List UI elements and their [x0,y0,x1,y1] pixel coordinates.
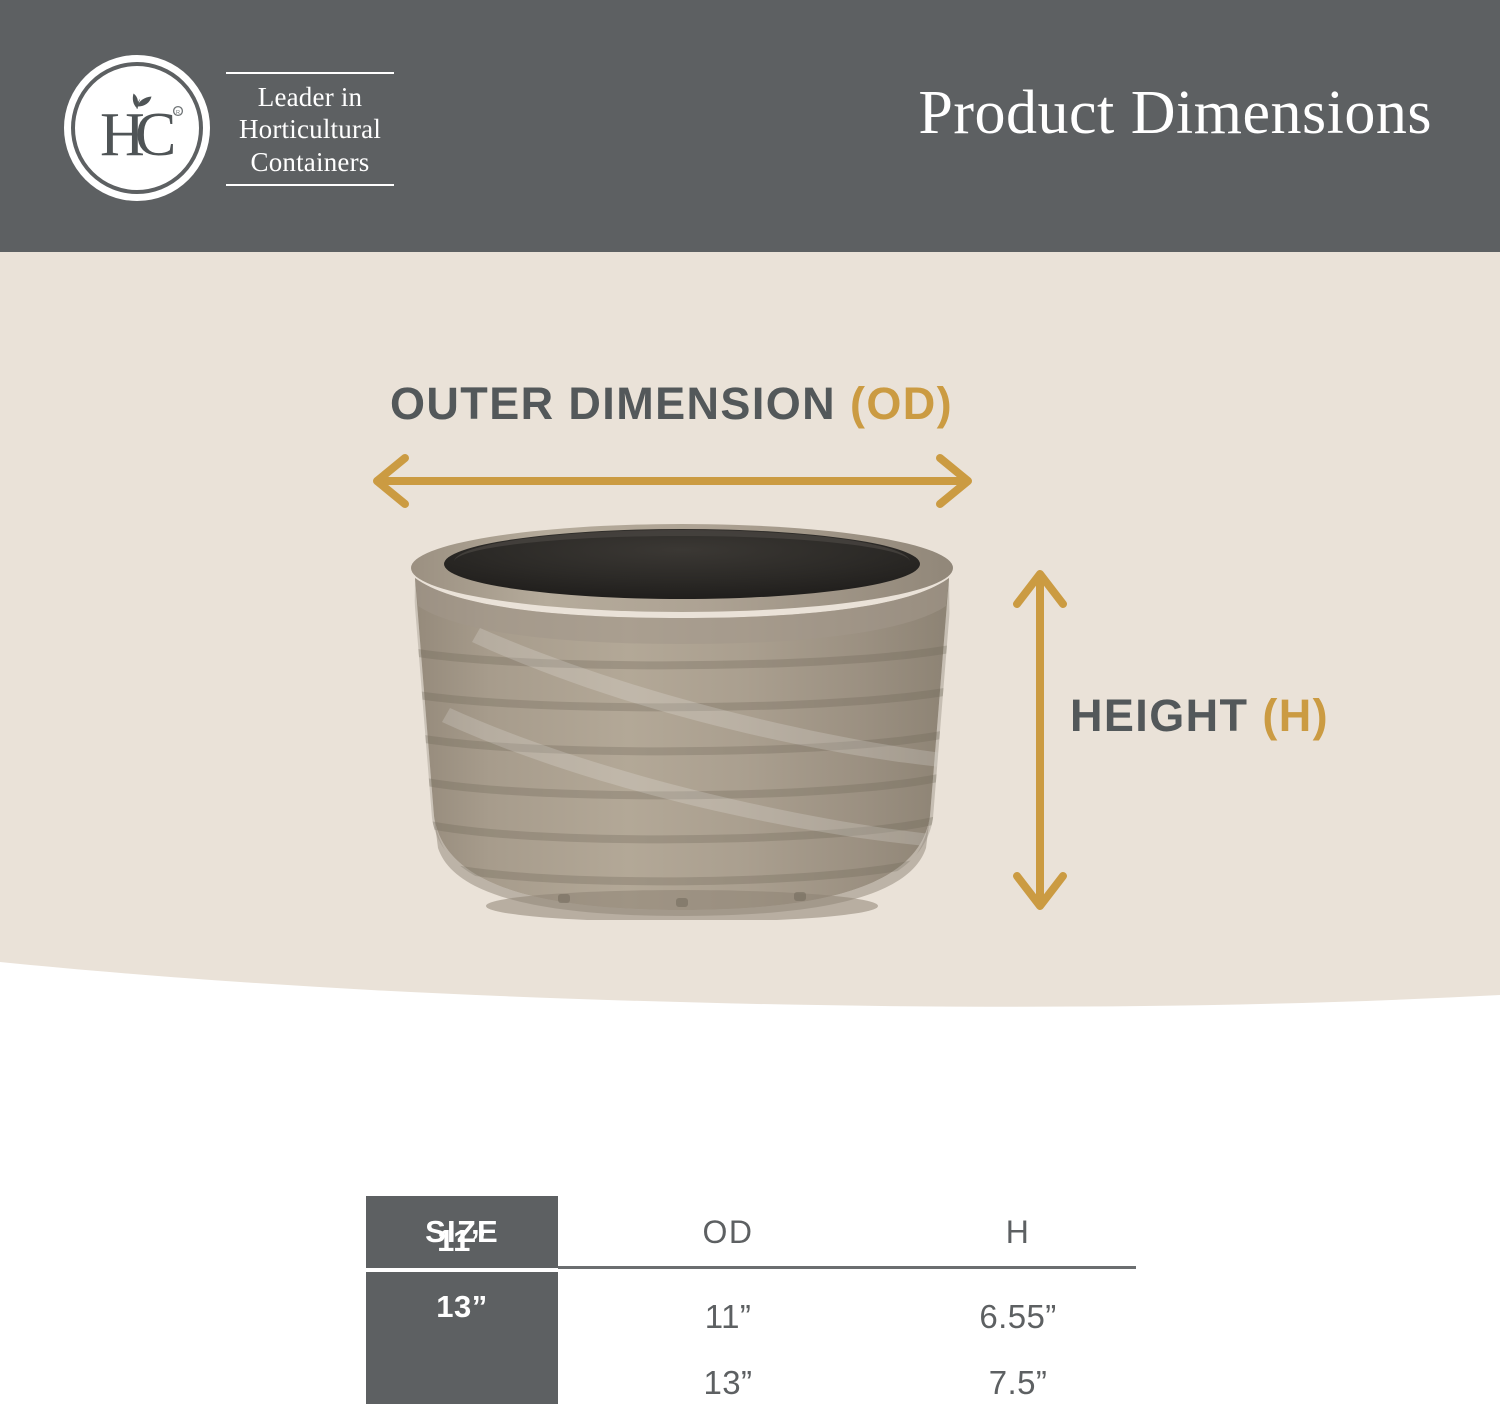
outer-dimension-label: OUTER DIMENSION (OD) [0,378,1500,430]
cell-size: 13” [436,1289,487,1325]
product-dimensions-infographic: H C R Leader in Horticultural Containers… [0,0,1500,1404]
cell-od: 11” [578,1286,878,1348]
hc-logo-icon: H C R [62,53,212,203]
height-arrow-icon [1005,560,1075,920]
table-header-divider [558,1266,1136,1269]
brand-logo: H C R Leader in Horticultural Containers [62,48,412,208]
od-label-abbrev: (OD) [850,378,953,429]
od-label-text: OUTER DIMENSION [390,378,836,429]
height-label-text: HEIGHT [1070,690,1248,741]
table-row: 11” [366,1210,558,1272]
cell-h: 6.55” [898,1286,1138,1348]
table-header-od: OD [578,1196,878,1268]
cell-od: 13” [578,1352,878,1404]
svg-text:R: R [176,110,180,116]
cell-h: 7.5” [898,1352,1138,1404]
height-label-abbrev: (H) [1262,690,1329,741]
brand-tagline-block: Leader in Horticultural Containers [226,70,394,185]
specifications-table: SIZE OD H 11” 13” 11” 6.55” 13” 7.5” [366,1196,1138,1404]
tagline-rule-bottom [226,184,394,186]
header-bar: H C R Leader in Horticultural Containers… [0,0,1500,252]
outer-dimension-arrow-icon [360,450,985,515]
svg-text:C: C [135,101,176,169]
cell-size: 11” [437,1223,487,1259]
table-row: 13” [366,1276,558,1338]
table-header-h: H [898,1196,1138,1268]
brand-tagline: Leader in Horticultural Containers [226,74,394,183]
height-label: HEIGHT (H) [1070,690,1329,742]
planter-pot-image [390,518,975,920]
page-title: Product Dimensions [918,82,1432,144]
